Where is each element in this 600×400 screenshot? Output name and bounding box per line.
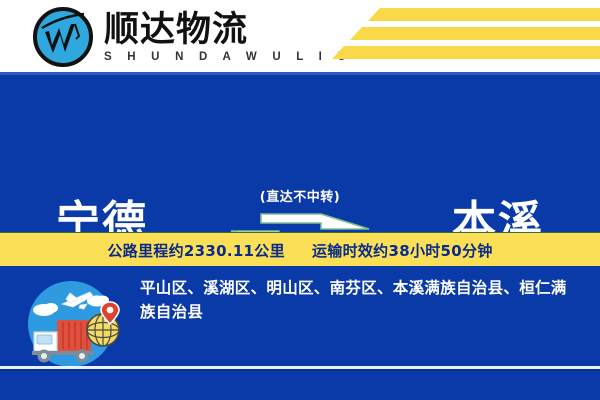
bottom-divider-shadow: [0, 369, 600, 371]
direct-shipping-note: (直达不中转): [224, 190, 376, 206]
route-section: 宁德 (直达不中转) 【往返运输】 本溪: [0, 72, 600, 232]
circle-w-logo-icon: [32, 6, 94, 68]
decorative-stripes: [300, 8, 600, 68]
stripe-1: [368, 8, 600, 21]
stripe-2: [350, 27, 600, 40]
distance-value: 公路里程约2330.11公里: [107, 242, 285, 260]
route-top-accent-line: [0, 72, 600, 75]
coverage-section: 平山区、溪湖区、明山区、南芬区、本溪满族自治县、桓仁满族自治县: [0, 266, 600, 400]
truck-globe-plane-icon: [18, 274, 130, 374]
logistics-route-banner: 顺达物流 S H U N D A W U L I U 宁德 (直达不中转) 【往…: [0, 0, 600, 400]
banner-header: 顺达物流 S H U N D A W U L I U: [0, 0, 600, 72]
stripe-3: [332, 46, 600, 59]
coverage-districts-text: 平山区、溪湖区、明山区、南芬区、本溪满族自治县、桓仁满族自治县: [140, 276, 570, 324]
duration-value: 运输时效约38小时50分钟: [312, 242, 493, 260]
route-info-text: 公路里程约2330.11公里 运输时效约38小时50分钟: [107, 240, 492, 261]
route-info-bar: 公路里程约2330.11公里 运输时效约38小时50分钟: [0, 232, 600, 268]
